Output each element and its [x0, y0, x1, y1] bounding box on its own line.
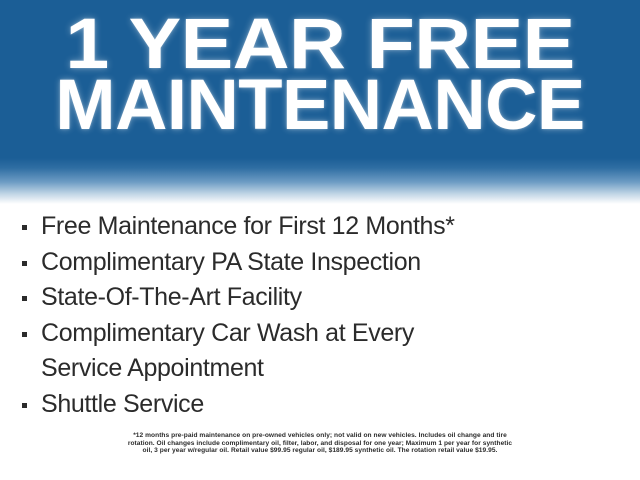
list-item: State-Of-The-Art Facility — [0, 280, 640, 316]
square-bullet-icon — [22, 261, 27, 266]
list-item-line-2: Service Appointment — [41, 351, 640, 387]
disclaimer-line-2: rotation. Oil changes include compliment… — [28, 440, 612, 448]
header-banner: 1 YEAR FREE MAINTENANCE — [0, 0, 640, 205]
list-item-line-1: State-Of-The-Art Facility — [41, 280, 640, 316]
list-item-line-1: Free Maintenance for First 12 Months* — [41, 209, 640, 245]
list-item-line-1: Shuttle Service — [41, 387, 640, 423]
list-item: Shuttle Service — [0, 387, 640, 423]
disclaimer-text: *12 months pre-paid maintenance on pre-o… — [0, 432, 640, 455]
promotional-flyer: 1 YEAR FREE MAINTENANCE Free Maintenance… — [0, 0, 640, 480]
list-item-text: Free Maintenance for First 12 Months* — [41, 209, 640, 245]
square-bullet-icon — [22, 296, 27, 301]
list-item: Complimentary PA State Inspection — [0, 245, 640, 281]
list-item-text: State-Of-The-Art Facility — [41, 280, 640, 316]
disclaimer-line-3: oil, 3 per year w/regular oil. Retail va… — [28, 447, 612, 455]
list-item: Free Maintenance for First 12 Months* — [0, 209, 640, 245]
list-item-text: Complimentary Car Wash at Every Service … — [41, 316, 640, 387]
headline: 1 YEAR FREE MAINTENANCE — [0, 0, 640, 136]
list-item: Complimentary Car Wash at Every Service … — [0, 316, 640, 387]
headline-line-1: 1 YEAR FREE — [0, 0, 640, 75]
square-bullet-icon — [22, 403, 27, 408]
list-item-line-1: Complimentary PA State Inspection — [41, 245, 640, 281]
list-item-line-1: Complimentary Car Wash at Every — [41, 316, 640, 352]
list-item-text: Complimentary PA State Inspection — [41, 245, 640, 281]
list-item-text: Shuttle Service — [41, 387, 640, 423]
square-bullet-icon — [22, 225, 27, 230]
square-bullet-icon — [22, 332, 27, 337]
disclaimer-line-1: *12 months pre-paid maintenance on pre-o… — [28, 432, 612, 440]
benefits-list: Free Maintenance for First 12 Months* Co… — [0, 209, 640, 422]
headline-line-2: MAINTENANCE — [0, 75, 640, 136]
